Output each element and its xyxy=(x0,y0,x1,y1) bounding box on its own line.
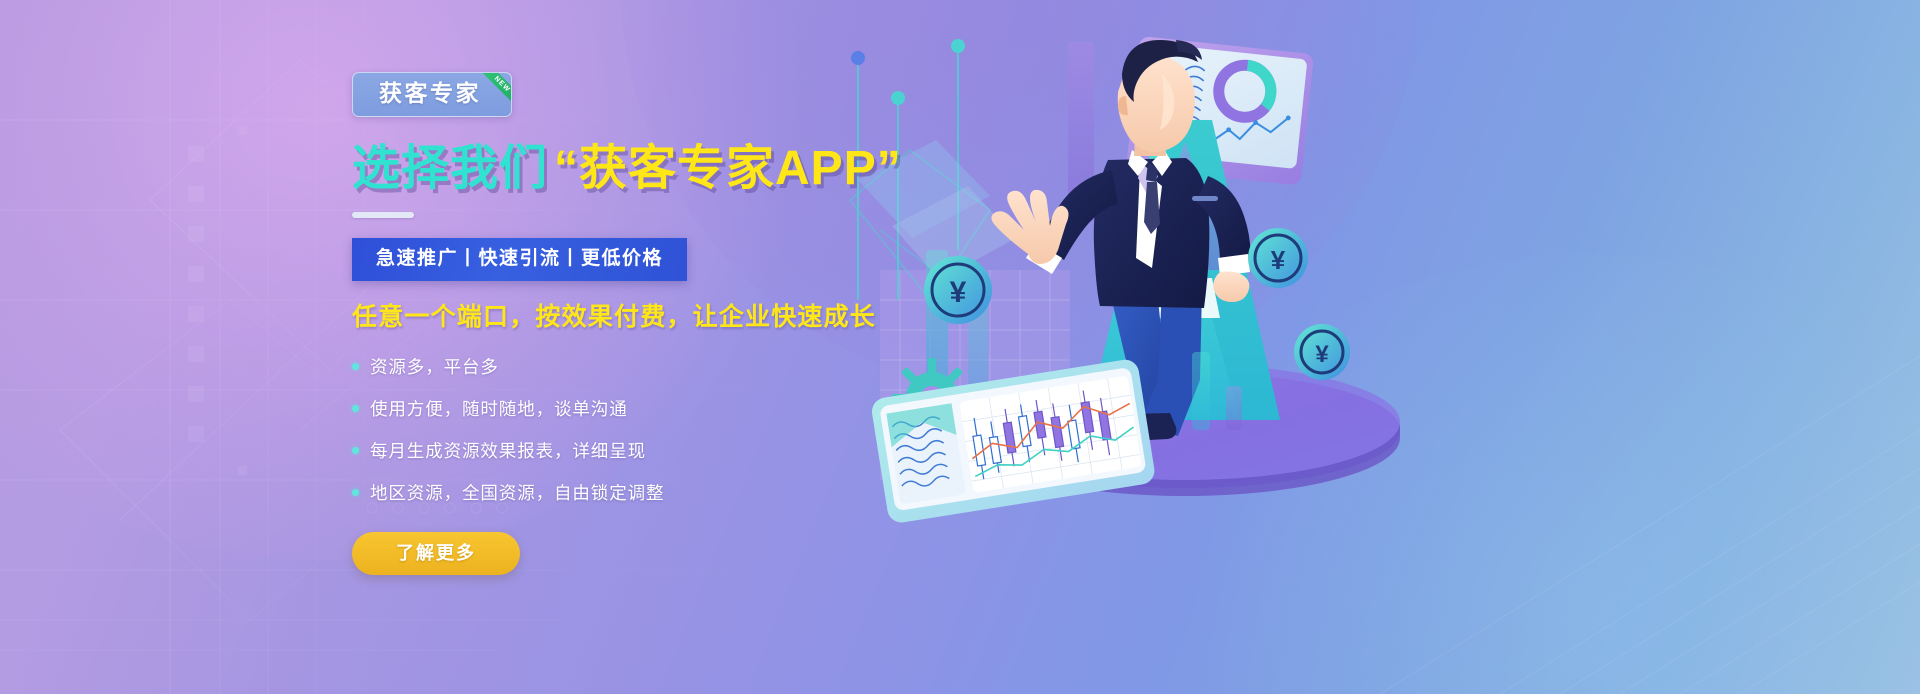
svg-text:¥: ¥ xyxy=(1271,245,1286,275)
list-item-label: 使用方便，随时随地，谈单沟通 xyxy=(370,396,628,421)
bullet-dot-icon xyxy=(352,447,359,454)
yen-coin-badge: ¥ xyxy=(1248,228,1308,288)
svg-text:¥: ¥ xyxy=(950,276,967,309)
feature-list: 资源多，平台多 使用方便，随时随地，谈单沟通 每月生成资源效果报表，详细呈现 地… xyxy=(352,354,912,505)
list-item-label: 地区资源，全国资源，自由锁定调整 xyxy=(370,480,664,505)
list-item-label: 资源多，平台多 xyxy=(370,354,499,379)
learn-more-button[interactable]: 了解更多 xyxy=(352,532,520,575)
feature-tagline-pill: 急速推广丨快速引流丨更低价格 xyxy=(352,238,687,281)
promo-banner: 获客专家 NEW 选择我们“获客专家APP” 急速推广丨快速引流丨更低价格 任意… xyxy=(0,0,1920,694)
bullet-dot-icon xyxy=(352,363,359,370)
page-title: 选择我们“获客专家APP” xyxy=(352,142,912,196)
list-item-label: 每月生成资源效果报表，详细呈现 xyxy=(370,438,646,463)
list-item: 每月生成资源效果报表，详细呈现 xyxy=(352,438,912,463)
bullet-dot-icon xyxy=(352,489,359,496)
product-badge-label: 获客专家 xyxy=(379,80,481,106)
yen-coin-badge: ¥ xyxy=(924,256,992,324)
page-subtitle: 任意一个端口，按效果付费，让企业快速成长 xyxy=(352,305,912,330)
bullet-dot-icon xyxy=(352,405,359,412)
list-item: 使用方便，随时随地，谈单沟通 xyxy=(352,396,912,421)
feature-tagline-label: 急速推广丨快速引流丨更低价格 xyxy=(376,248,663,269)
list-item: 资源多，平台多 xyxy=(352,354,912,379)
yen-coin-badge: ¥ xyxy=(1294,324,1350,380)
list-item: 地区资源，全国资源，自由锁定调整 xyxy=(352,480,912,505)
headline-part-accent: “获客专家APP” xyxy=(554,142,902,195)
hero-illustration: ¥ ¥ ¥ xyxy=(840,0,1520,694)
product-badge[interactable]: 获客专家 NEW xyxy=(352,72,512,117)
headline-part-primary: 选择我们 xyxy=(352,142,548,195)
svg-text:¥: ¥ xyxy=(1315,341,1329,368)
learn-more-button-label: 了解更多 xyxy=(396,543,476,563)
title-underline-rule xyxy=(352,212,414,218)
banner-copy-block: 获客专家 NEW 选择我们“获客专家APP” 急速推广丨快速引流丨更低价格 任意… xyxy=(352,72,912,575)
